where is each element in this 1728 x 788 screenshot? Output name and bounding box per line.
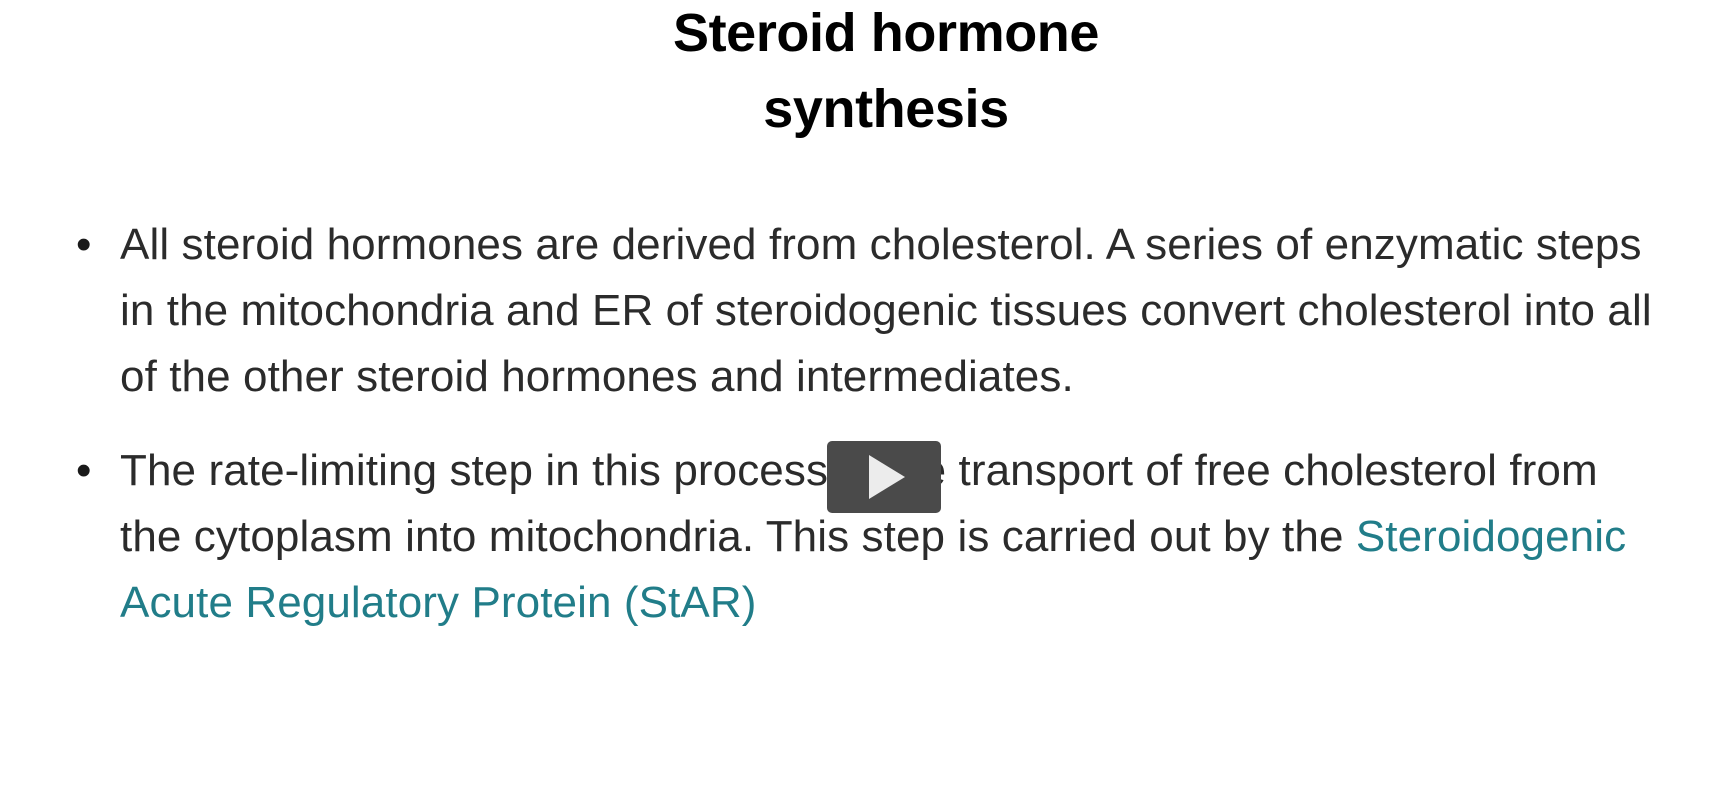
bullet-marker-icon: •	[62, 212, 120, 278]
list-item: • All steroid hormones are derived from …	[62, 212, 1662, 410]
slide-body: • All steroid hormones are derived from …	[62, 212, 1662, 664]
page-title: Steroid hormone synthesis	[0, 0, 1728, 147]
play-triangle-icon	[869, 455, 905, 499]
slide-canvas: Steroid hormone synthesis • All steroid …	[0, 0, 1728, 788]
bullet-marker-icon: •	[62, 438, 120, 504]
bullet-text-1: All steroid hormones are derived from ch…	[120, 212, 1662, 410]
play-button[interactable]	[827, 441, 941, 513]
